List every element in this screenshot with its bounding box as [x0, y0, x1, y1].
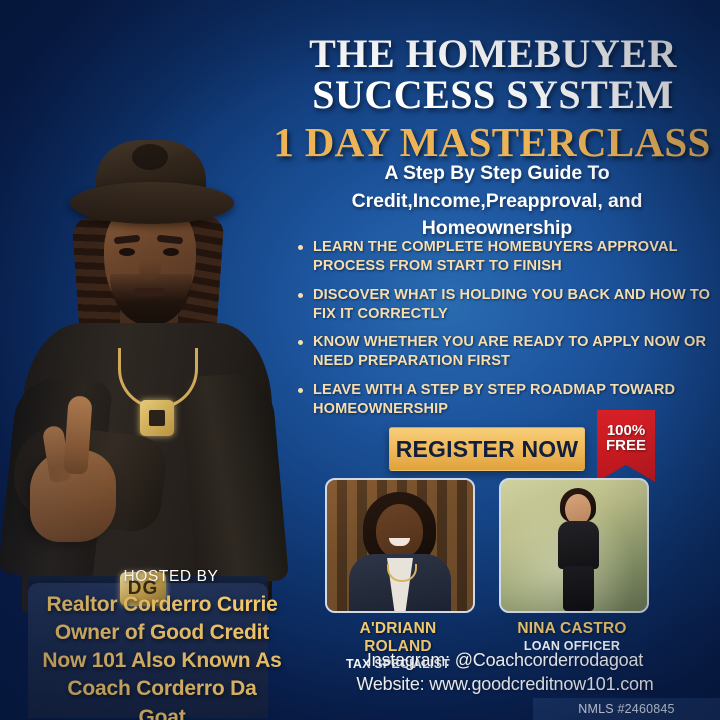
register-now-button[interactable]: REGISTER NOW [389, 427, 585, 471]
subheading-line-2: Credit,Income,Preapproval, and [292, 188, 702, 216]
pendant-shape [140, 400, 174, 436]
mouth-shape [134, 288, 166, 296]
presenter-photo-adriann [325, 478, 475, 613]
host-name-line-1: Realtor Corderro Currie [22, 591, 302, 619]
presenter-photo-nina [499, 478, 649, 613]
presenter-card: NINA CASTRO LOAN OFFICER [499, 478, 645, 671]
free-ribbon-badge: 100% FREE [597, 410, 655, 482]
pants-shape [563, 566, 594, 611]
host-name-line-5: Goat [22, 704, 302, 720]
benefits-list: LEARN THE COMPLETE HOMEBUYERS APPROVAL P… [296, 238, 714, 428]
instagram-handle[interactable]: Instagram: @Coachcorderrodagoat [300, 648, 710, 672]
subheading-line-1: A Step By Step Guide To [292, 160, 702, 188]
list-item: DISCOVER WHAT IS HOLDING YOU BACK AND HO… [296, 286, 714, 325]
headline-line-1: THE HOMEBUYER [309, 31, 677, 76]
host-portrait: DG [0, 78, 312, 638]
presenter-name: NINA CASTRO [499, 620, 645, 638]
hat-brim-shape [70, 182, 234, 224]
shoulder-right-shape [179, 370, 289, 587]
top-shape [558, 521, 599, 569]
presenter-card: A'DRIANN ROLAND TAX SPECIALIST [325, 478, 471, 671]
host-name: Realtor Corderro Currie Owner of Good Cr… [22, 591, 302, 720]
headline-line-2: SUCCESS SYSTEM [278, 75, 708, 116]
list-item: LEARN THE COMPLETE HOMEBUYERS APPROVAL P… [296, 238, 714, 277]
eye-left-shape [119, 248, 135, 256]
nmls-number: NMLS #2460845 [533, 698, 720, 720]
host-name-line-3: Now 101 Also Known As [22, 647, 302, 675]
presenters-row: A'DRIANN ROLAND TAX SPECIALIST NINA CAST… [325, 478, 645, 671]
hat-dent-shape [132, 144, 168, 170]
badge-free-text: FREE [597, 438, 655, 453]
headline-subtitle-gold: 1 DAY MASTERCLASS [270, 118, 714, 166]
website-url[interactable]: Website: www.goodcreditnow101.com [300, 672, 710, 696]
badge-percent-text: 100% [597, 423, 655, 438]
page-title: THE HOMEBUYER SUCCESS SYSTEM [278, 34, 708, 116]
list-item: KNOW WHETHER YOU ARE READY TO APPLY NOW … [296, 333, 714, 372]
hosted-by-label: HOSTED BY [38, 568, 304, 586]
promotional-flyer: DG THE HOMEBUYER SUCCESS SYSTEM 1 DAY MA… [0, 0, 720, 720]
host-name-line-4: Coach Corderro Da [22, 675, 302, 703]
subheading: A Step By Step Guide To Credit,Income,Pr… [292, 160, 702, 243]
host-name-line-2: Owner of Good Credit [22, 619, 302, 647]
eye-right-shape [163, 248, 179, 256]
face-shape [376, 504, 423, 558]
contact-info: Instagram: @Coachcorderrodagoat Website:… [300, 648, 710, 697]
